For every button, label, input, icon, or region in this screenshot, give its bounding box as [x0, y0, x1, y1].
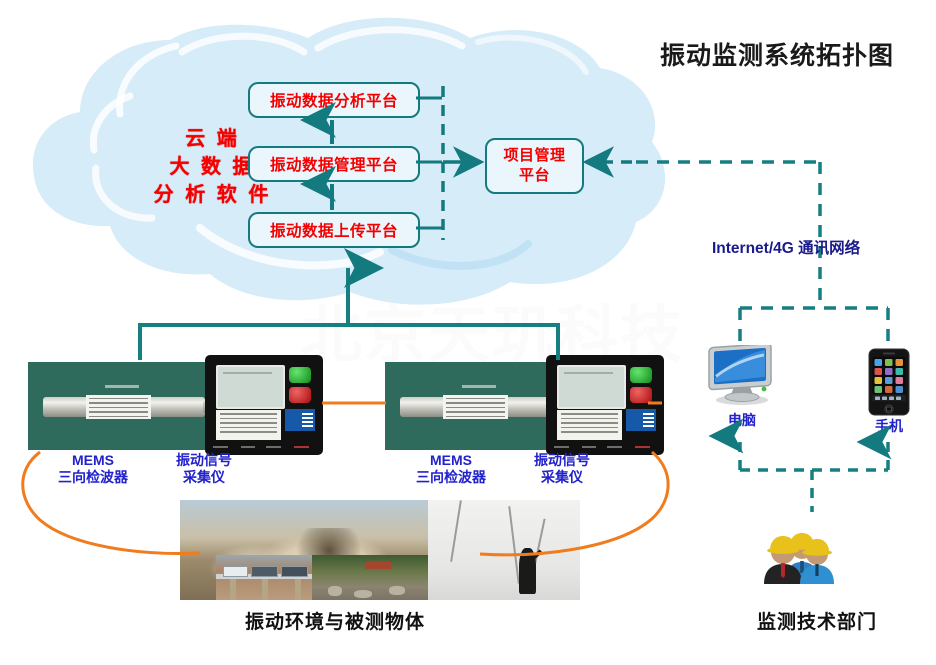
- orange-loop-left: [23, 452, 200, 554]
- diagram-canvas: 北京天玑科技 云 端 大 数 据 分 析 软 件: [0, 0, 936, 665]
- department-label: 监测技术部门: [757, 607, 877, 634]
- bottom-caption-environment: 振动环境与被测物体: [245, 607, 425, 634]
- network-label: Internet/4G 通讯网络: [712, 236, 912, 258]
- page-title: 振动监测系统拓扑图: [660, 36, 910, 72]
- orange-loop-right: [480, 452, 668, 555]
- connector-layer-main: [0, 0, 936, 665]
